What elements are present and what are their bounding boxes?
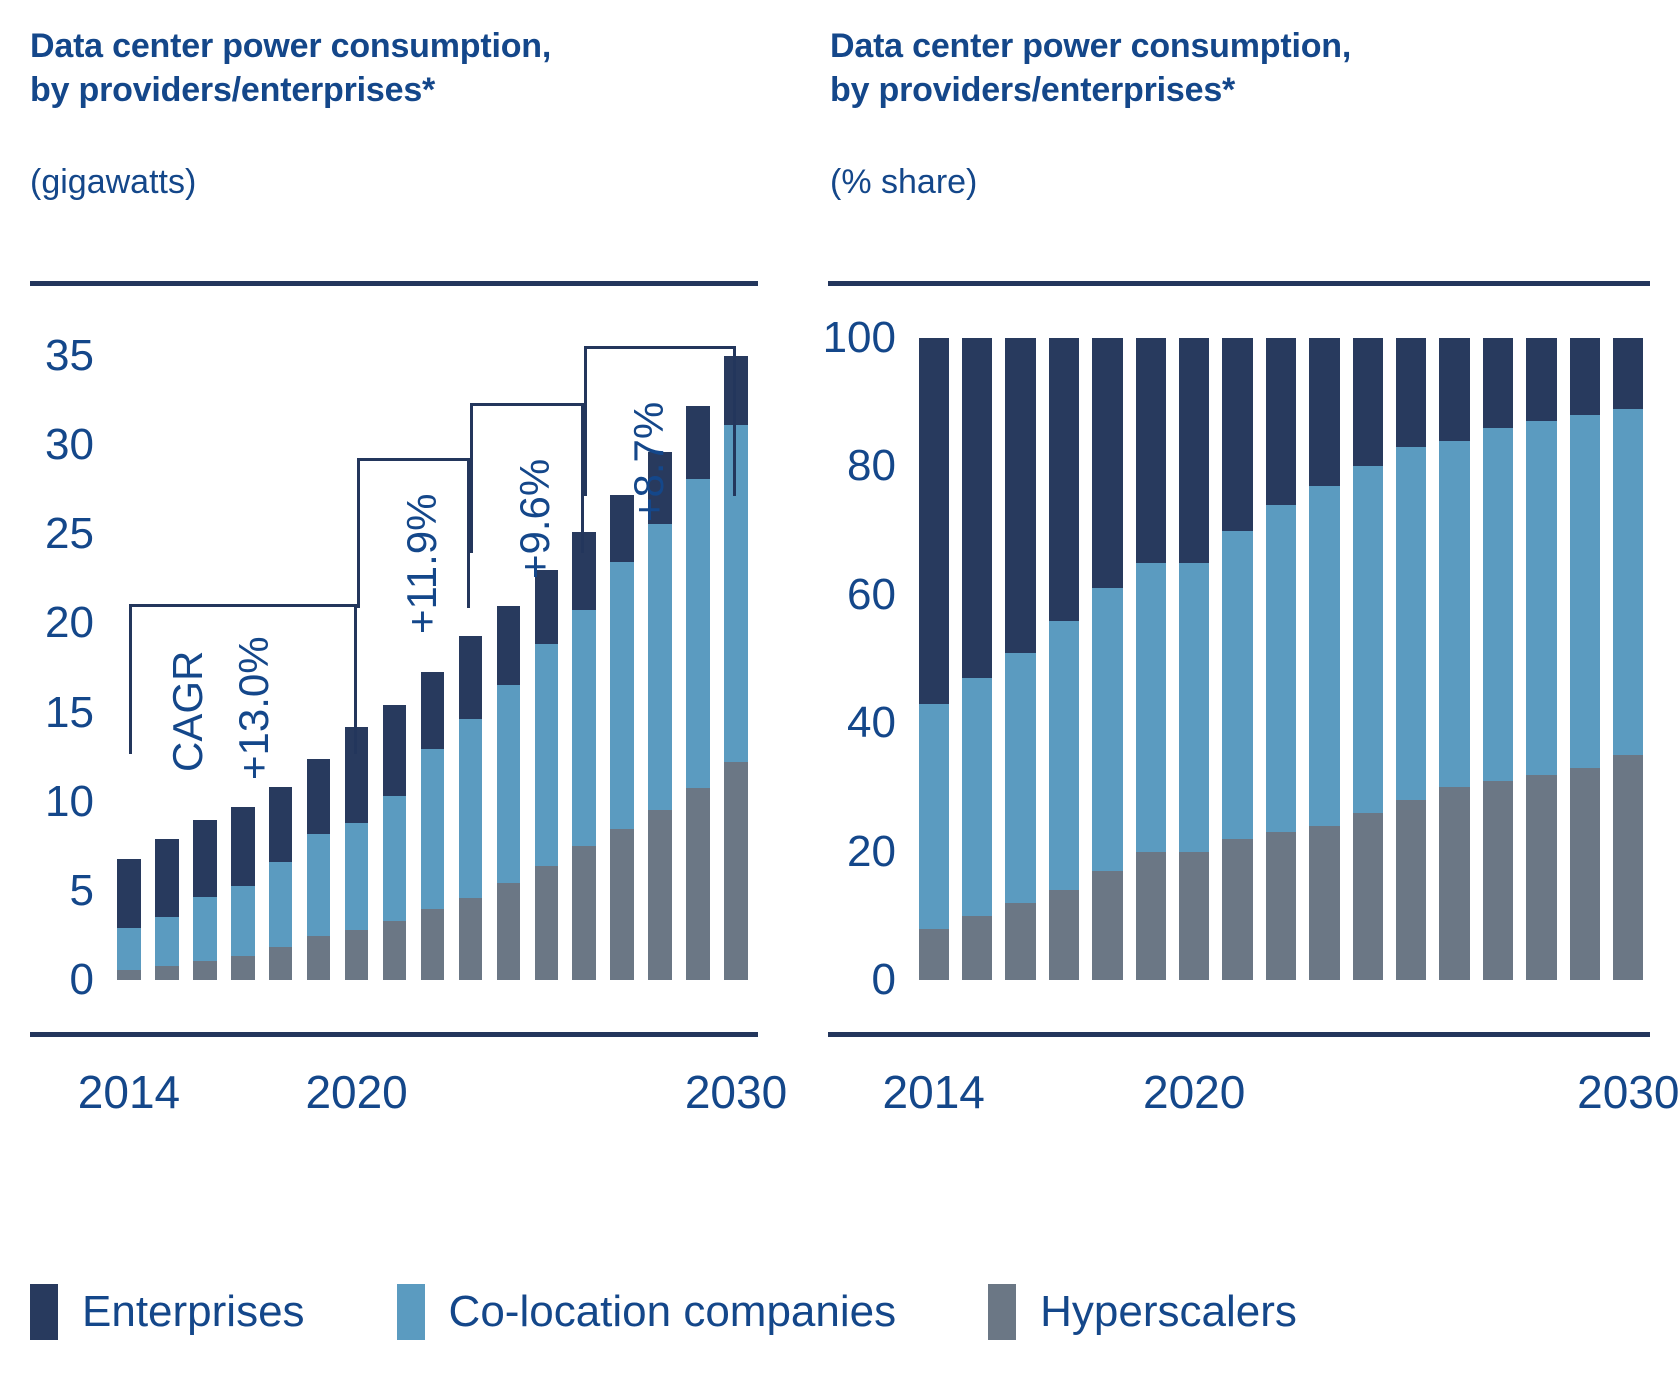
bar-segment-colocation [269, 862, 293, 947]
bar-segment-hyperscalers [497, 883, 521, 980]
legend-label-colocation: Co-location companies [449, 1290, 897, 1334]
bar-segment-hyperscalers [648, 810, 672, 980]
bar-segment-hyperscalers [307, 936, 331, 980]
bar-segment-enterprises [962, 338, 992, 678]
stacked-bar[interactable] [1396, 338, 1426, 980]
stacked-bar[interactable] [535, 570, 559, 980]
bar-segment-enterprises [1005, 338, 1035, 653]
bar-segment-colocation [1353, 466, 1383, 813]
bar-segment-colocation [459, 719, 483, 898]
bar-segment-colocation [155, 917, 179, 966]
bar-segment-hyperscalers [345, 930, 369, 980]
bar-slot[interactable] [1520, 338, 1563, 980]
bar-slot[interactable] [1389, 338, 1432, 980]
legend-label-hyperscalers: Hyperscalers [1040, 1290, 1297, 1334]
bar-segment-enterprises [383, 705, 407, 796]
bar-segment-colocation [421, 749, 445, 909]
bar-segment-colocation [1439, 441, 1469, 788]
bar-segment-hyperscalers [1396, 800, 1426, 980]
stacked-bar[interactable] [1570, 338, 1600, 980]
bar-segment-colocation [1136, 563, 1166, 852]
chart-title-left: Data center power consumption, by provid… [30, 24, 790, 112]
bar-segment-hyperscalers [1439, 787, 1469, 980]
bar-segment-hyperscalers [1179, 852, 1209, 980]
plot-area-gigawatts: 05101520253035 +13.0%+11.9%+9.6%+8.7%CAG… [110, 338, 755, 980]
stacked-bar[interactable] [1136, 338, 1166, 980]
bar-segment-colocation [231, 886, 255, 956]
x-axis-year-label: 2020 [1143, 1062, 1245, 1122]
bar-segment-colocation [648, 524, 672, 809]
stacked-bar[interactable] [497, 606, 521, 980]
bar-slot[interactable] [1216, 338, 1259, 980]
bar-segment-hyperscalers [962, 916, 992, 980]
bar-slot[interactable] [717, 338, 755, 980]
bar-segment-enterprises [497, 606, 521, 685]
bar-segment-colocation [1266, 505, 1296, 832]
bar-segment-colocation [1309, 486, 1339, 826]
x-axis-labels-right: 201420202030 [0, 1062, 1680, 1122]
bar-segment-hyperscalers [1005, 903, 1035, 980]
bar-segment-enterprises [1526, 338, 1556, 421]
bar-slot[interactable] [376, 338, 414, 980]
y-tick-label: 10 [45, 780, 110, 824]
y-tick-label: 25 [45, 512, 110, 556]
stacked-bar[interactable] [1439, 338, 1469, 980]
bar-segment-colocation [1613, 409, 1643, 756]
legend-item-hyperscalers[interactable]: Hyperscalers [988, 1284, 1297, 1340]
y-tick-label: 35 [45, 334, 110, 378]
bar-slot[interactable] [224, 338, 262, 980]
legend-swatch-enterprises [30, 1284, 58, 1340]
stacked-bar[interactable] [1526, 338, 1556, 980]
stacked-bar[interactable] [1005, 338, 1035, 980]
stacked-bar[interactable] [421, 672, 445, 980]
bar-segment-enterprises [1179, 338, 1209, 563]
y-tick-label: 20 [45, 601, 110, 645]
bar-segment-colocation [307, 834, 331, 937]
divider-bottom-left [30, 1032, 758, 1037]
bar-segment-enterprises [307, 759, 331, 834]
bar-segment-colocation [1179, 563, 1209, 852]
bar-slot[interactable] [1259, 338, 1302, 980]
chart-title-right: Data center power consumption, by provid… [830, 24, 1630, 112]
bar-slot[interactable] [912, 338, 955, 980]
bar-segment-enterprises [269, 787, 293, 862]
bar-segment-colocation [962, 678, 992, 916]
plot-area-share: 020406080100 [912, 338, 1650, 980]
stacked-bar[interactable] [648, 452, 672, 980]
bar-segment-colocation [345, 823, 369, 930]
bar-slot[interactable] [1086, 338, 1129, 980]
bar-segment-hyperscalers [1483, 781, 1513, 980]
bar-segment-enterprises [1439, 338, 1469, 441]
bar-segment-hyperscalers [919, 929, 949, 980]
bar-slot[interactable] [1563, 338, 1606, 980]
bar-segment-colocation [572, 610, 596, 846]
bar-segment-hyperscalers [117, 970, 141, 980]
legend-item-enterprises[interactable]: Enterprises [30, 1284, 305, 1340]
bar-segment-enterprises [459, 636, 483, 719]
bar-segment-colocation [1570, 415, 1600, 768]
bar-segment-hyperscalers [572, 846, 596, 980]
y-tick-label: 0 [70, 958, 110, 1002]
bar-segment-hyperscalers [1136, 852, 1166, 980]
legend-swatch-colocation [397, 1284, 425, 1340]
stacked-bar[interactable] [572, 532, 596, 980]
y-tick-label: 20 [847, 830, 912, 874]
bar-segment-enterprises [648, 452, 672, 524]
bar-segment-hyperscalers [231, 956, 255, 980]
stacked-bar[interactable] [231, 807, 255, 980]
chart-subtitle-left: (gigawatts) [30, 160, 196, 204]
bar-segment-hyperscalers [1092, 871, 1122, 980]
legend-swatch-hyperscalers [988, 1284, 1016, 1340]
bar-segment-colocation [383, 796, 407, 921]
bar-slot[interactable] [603, 338, 641, 980]
stacked-bar[interactable] [117, 859, 141, 980]
bar-slot[interactable] [1433, 338, 1476, 980]
bar-segment-enterprises [421, 672, 445, 750]
stacked-bar[interactable] [1613, 338, 1643, 980]
bar-segment-hyperscalers [724, 762, 748, 980]
bar-segment-colocation [724, 425, 748, 762]
figure-root: Data center power consumption, by provid… [0, 0, 1680, 1388]
bar-segment-enterprises [572, 532, 596, 610]
bar-segment-hyperscalers [1309, 826, 1339, 980]
bar-slot[interactable] [1303, 338, 1346, 980]
stacked-bar[interactable] [1049, 338, 1079, 980]
legend-label-enterprises: Enterprises [82, 1290, 305, 1334]
bar-segment-enterprises [919, 338, 949, 704]
bar-segment-enterprises [1049, 338, 1079, 620]
y-tick-label: 0 [872, 958, 912, 1002]
bar-segment-colocation [535, 644, 559, 866]
bar-segment-enterprises [1136, 338, 1166, 563]
bar-slot[interactable] [955, 338, 998, 980]
bar-slot[interactable] [186, 338, 224, 980]
stacked-bar[interactable] [919, 338, 949, 980]
divider-top-right [828, 281, 1650, 286]
bar-segment-enterprises [231, 807, 255, 885]
y-tick-label: 5 [70, 869, 110, 913]
bar-group-share [912, 338, 1650, 980]
bar-segment-enterprises [117, 859, 141, 929]
bar-slot[interactable] [414, 338, 452, 980]
bar-slot[interactable] [1172, 338, 1215, 980]
y-tick-label: 80 [847, 444, 912, 488]
bar-segment-colocation [117, 928, 141, 970]
stacked-bar[interactable] [1266, 338, 1296, 980]
stacked-bar[interactable] [1092, 338, 1122, 980]
bar-slot[interactable] [300, 338, 338, 980]
bar-segment-colocation [1092, 588, 1122, 870]
bar-segment-enterprises [1483, 338, 1513, 428]
x-axis-year-label: 2030 [1577, 1062, 1679, 1122]
bar-segment-enterprises [535, 570, 559, 644]
stacked-bar[interactable] [459, 636, 483, 980]
bar-slot[interactable] [1476, 338, 1519, 980]
y-tick-label: 30 [45, 423, 110, 467]
bar-segment-enterprises [345, 727, 369, 823]
bar-segment-hyperscalers [1266, 832, 1296, 980]
stacked-bar[interactable] [1309, 338, 1339, 980]
bar-segment-hyperscalers [1570, 768, 1600, 980]
bar-segment-hyperscalers [193, 961, 217, 980]
bar-segment-enterprises [193, 820, 217, 898]
stacked-bar[interactable] [610, 495, 634, 980]
bar-slot[interactable] [262, 338, 300, 980]
bar-segment-colocation [1049, 621, 1079, 891]
bar-segment-enterprises [610, 495, 634, 562]
stacked-bar[interactable] [1353, 338, 1383, 980]
stacked-bar[interactable] [1483, 338, 1513, 980]
bar-segment-hyperscalers [1049, 890, 1079, 980]
bar-segment-hyperscalers [155, 966, 179, 980]
bar-segment-colocation [919, 704, 949, 929]
bar-segment-enterprises [1613, 338, 1643, 409]
stacked-bar[interactable] [962, 338, 992, 980]
bar-segment-colocation [1483, 428, 1513, 781]
bar-group-gigawatts [110, 338, 755, 980]
bar-slot[interactable] [1346, 338, 1389, 980]
y-tick-label: 40 [847, 701, 912, 745]
bar-segment-hyperscalers [1353, 813, 1383, 980]
bar-slot[interactable] [110, 338, 148, 980]
bar-slot[interactable] [451, 338, 489, 980]
bar-segment-hyperscalers [421, 909, 445, 980]
stacked-bar[interactable] [193, 820, 217, 980]
legend-item-colocation[interactable]: Co-location companies [397, 1284, 897, 1340]
bar-segment-enterprises [1396, 338, 1426, 447]
bar-segment-enterprises [1222, 338, 1252, 531]
bar-segment-enterprises [155, 839, 179, 917]
bar-slot[interactable] [1129, 338, 1172, 980]
stacked-bar[interactable] [1222, 338, 1252, 980]
bar-segment-enterprises [1092, 338, 1122, 588]
bar-segment-enterprises [724, 356, 748, 425]
stacked-bar[interactable] [155, 839, 179, 980]
bar-segment-hyperscalers [535, 866, 559, 980]
bar-slot[interactable] [1042, 338, 1085, 980]
bar-slot[interactable] [527, 338, 565, 980]
bar-slot[interactable] [565, 338, 603, 980]
bar-segment-hyperscalers [610, 829, 634, 980]
stacked-bar[interactable] [307, 759, 331, 980]
bar-segment-enterprises [1353, 338, 1383, 466]
divider-top-left [30, 281, 758, 286]
y-tick-label: 60 [847, 573, 912, 617]
divider-bottom-right [828, 1032, 1650, 1037]
stacked-bar[interactable] [1179, 338, 1209, 980]
bar-segment-hyperscalers [269, 947, 293, 980]
y-tick-label: 100 [823, 316, 912, 360]
bar-segment-hyperscalers [1613, 755, 1643, 980]
bar-slot[interactable] [999, 338, 1042, 980]
bar-segment-hyperscalers [383, 921, 407, 980]
bar-segment-hyperscalers [459, 898, 483, 980]
bar-segment-hyperscalers [686, 788, 710, 980]
bar-slot[interactable] [679, 338, 717, 980]
bar-segment-colocation [1396, 447, 1426, 800]
bar-slot[interactable] [489, 338, 527, 980]
y-tick-label: 15 [45, 691, 110, 735]
bar-segment-hyperscalers [1526, 775, 1556, 980]
bar-segment-enterprises [686, 406, 710, 479]
bar-segment-colocation [1222, 531, 1252, 839]
stacked-bar[interactable] [686, 406, 710, 980]
bar-segment-enterprises [1309, 338, 1339, 486]
bar-segment-colocation [610, 562, 634, 830]
bar-segment-enterprises [1266, 338, 1296, 505]
bar-segment-colocation [497, 685, 521, 883]
bar-slot[interactable] [1607, 338, 1650, 980]
stacked-bar[interactable] [269, 787, 293, 980]
chart-subtitle-right: (% share) [830, 160, 977, 204]
bar-segment-hyperscalers [1222, 839, 1252, 980]
stacked-bar[interactable] [724, 356, 748, 980]
stacked-bar[interactable] [383, 705, 407, 980]
chart-legend: EnterprisesCo-location companiesHypersca… [30, 1284, 1389, 1340]
bar-slot[interactable] [148, 338, 186, 980]
bar-segment-colocation [193, 897, 217, 961]
x-axis-year-label: 2014 [883, 1062, 985, 1122]
bar-segment-enterprises [1570, 338, 1600, 415]
bar-slot[interactable] [338, 338, 376, 980]
bar-segment-colocation [686, 479, 710, 788]
bar-slot[interactable] [641, 338, 679, 980]
bar-segment-colocation [1005, 653, 1035, 903]
stacked-bar[interactable] [345, 727, 369, 980]
bar-segment-colocation [1526, 421, 1556, 774]
